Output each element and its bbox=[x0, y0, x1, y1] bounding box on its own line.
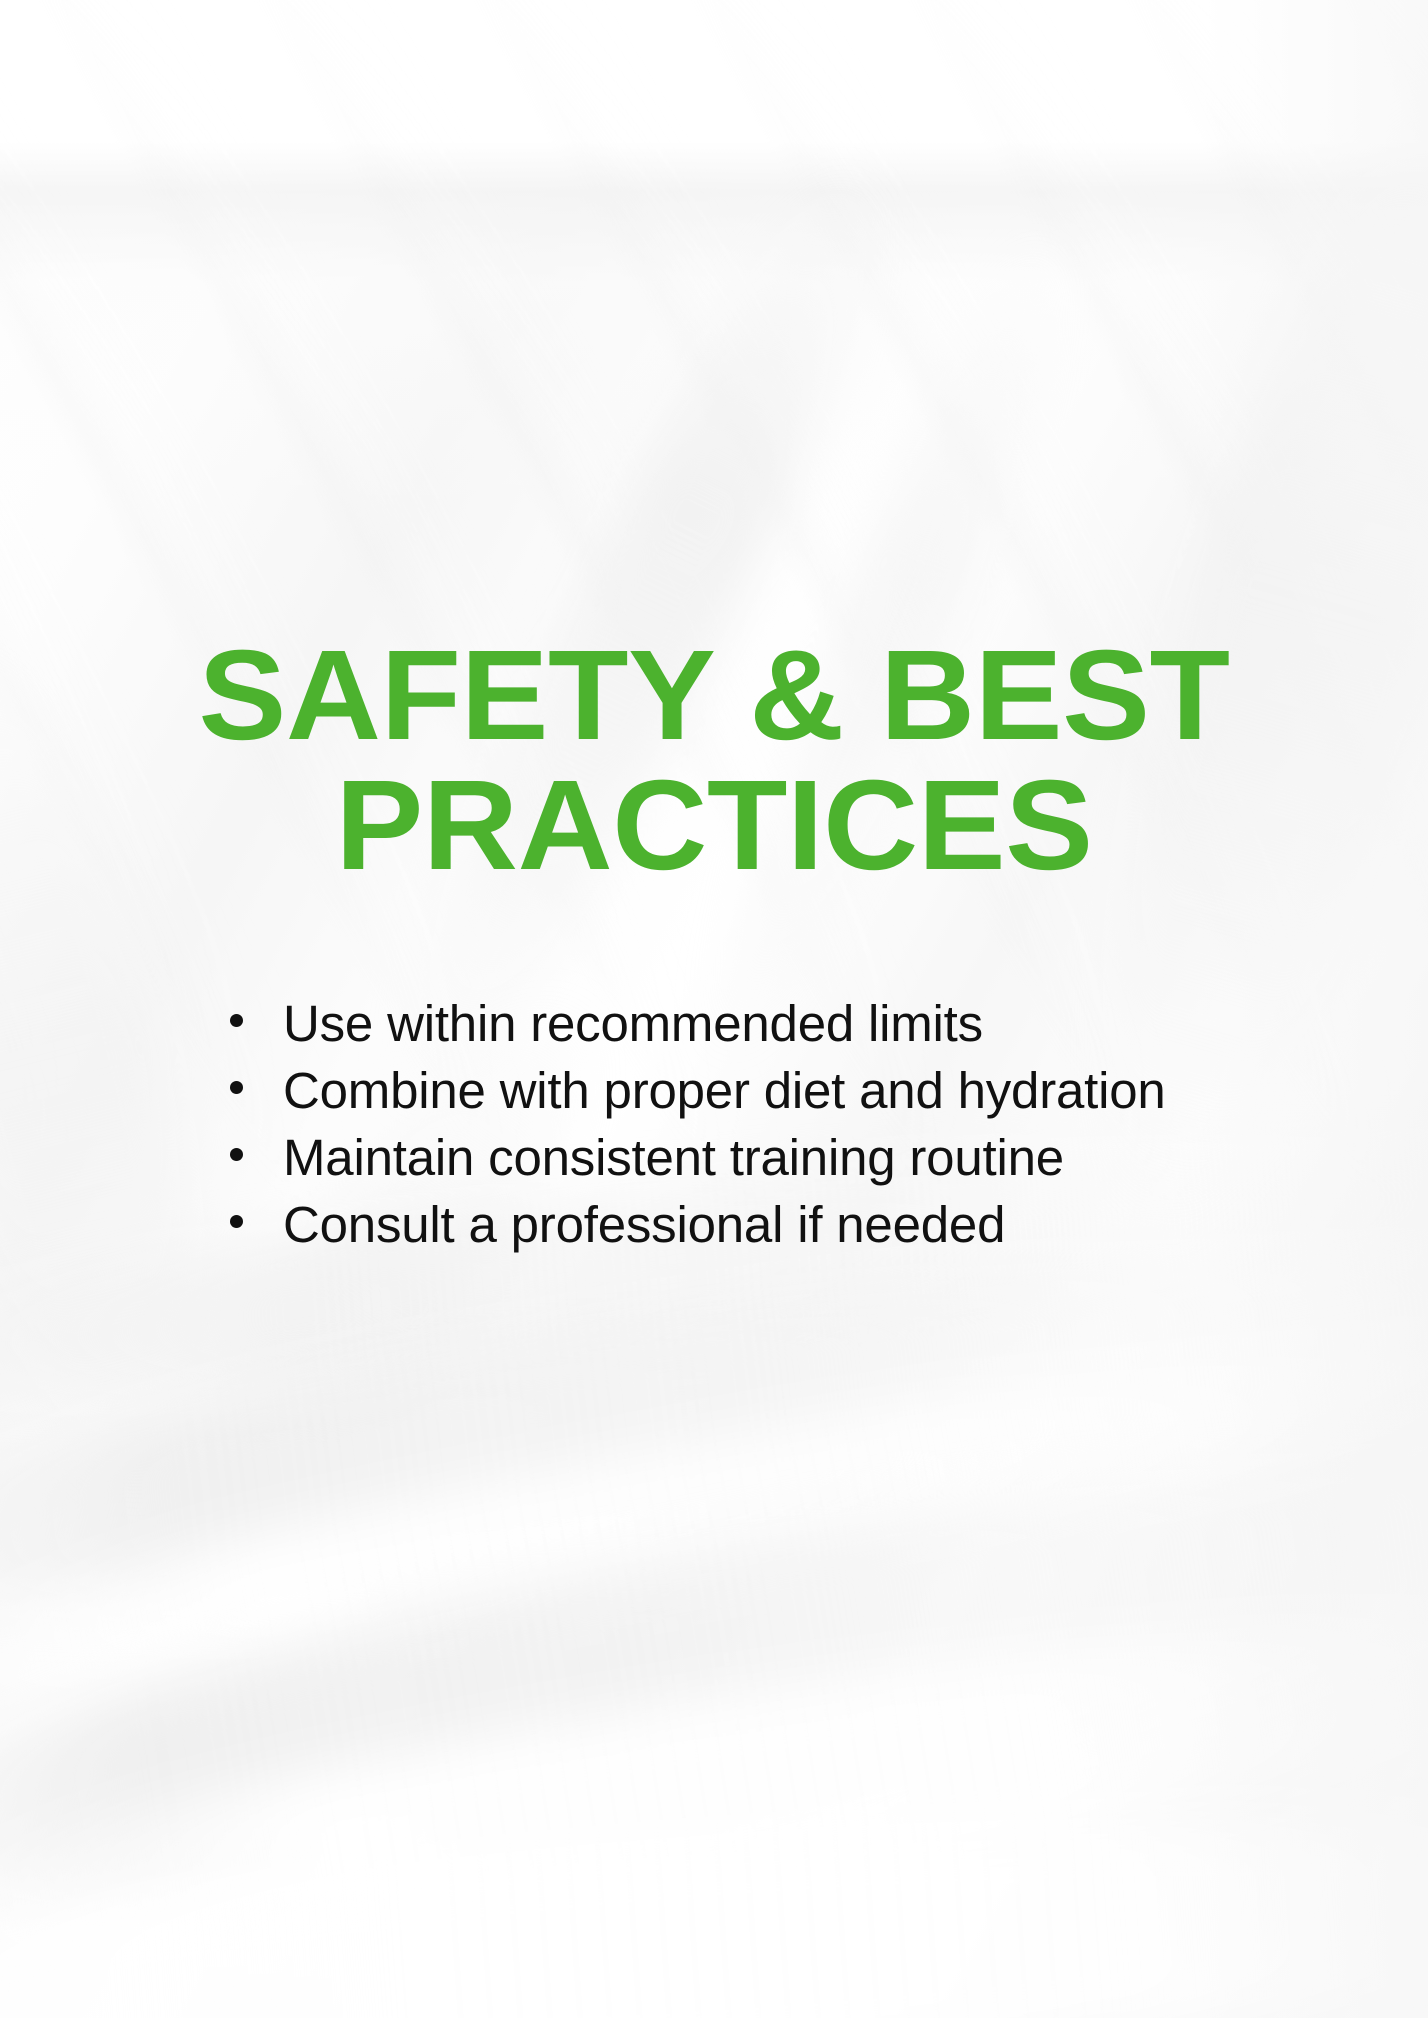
list-item-label: Combine with proper diet and hydration bbox=[283, 1057, 1166, 1124]
page-title-line-2: PRACTICES bbox=[0, 766, 1428, 886]
page-title-line-1: SAFETY & BEST bbox=[0, 636, 1428, 756]
list-item-label: Consult a professional if needed bbox=[283, 1191, 1005, 1258]
list-item-label: Maintain consistent training routine bbox=[283, 1124, 1064, 1191]
list-item: Use within recommended limits bbox=[230, 990, 1290, 1057]
poster-canvas: SAFETY & BEST PRACTICES Use within recom… bbox=[0, 0, 1428, 2018]
bullet-dot-icon bbox=[230, 1014, 243, 1027]
list-item-label: Use within recommended limits bbox=[283, 990, 983, 1057]
list-item: Maintain consistent training routine bbox=[230, 1124, 1290, 1191]
safety-bullet-list: Use within recommended limits Combine wi… bbox=[230, 990, 1290, 1258]
bullet-dot-icon bbox=[230, 1148, 243, 1161]
bullet-dot-icon bbox=[230, 1081, 243, 1094]
poster-content: SAFETY & BEST PRACTICES Use within recom… bbox=[0, 0, 1428, 2018]
bullet-dot-icon bbox=[230, 1215, 243, 1228]
list-item: Combine with proper diet and hydration bbox=[230, 1057, 1290, 1124]
page-title: SAFETY & BEST PRACTICES bbox=[0, 636, 1428, 886]
list-item: Consult a professional if needed bbox=[230, 1191, 1290, 1258]
